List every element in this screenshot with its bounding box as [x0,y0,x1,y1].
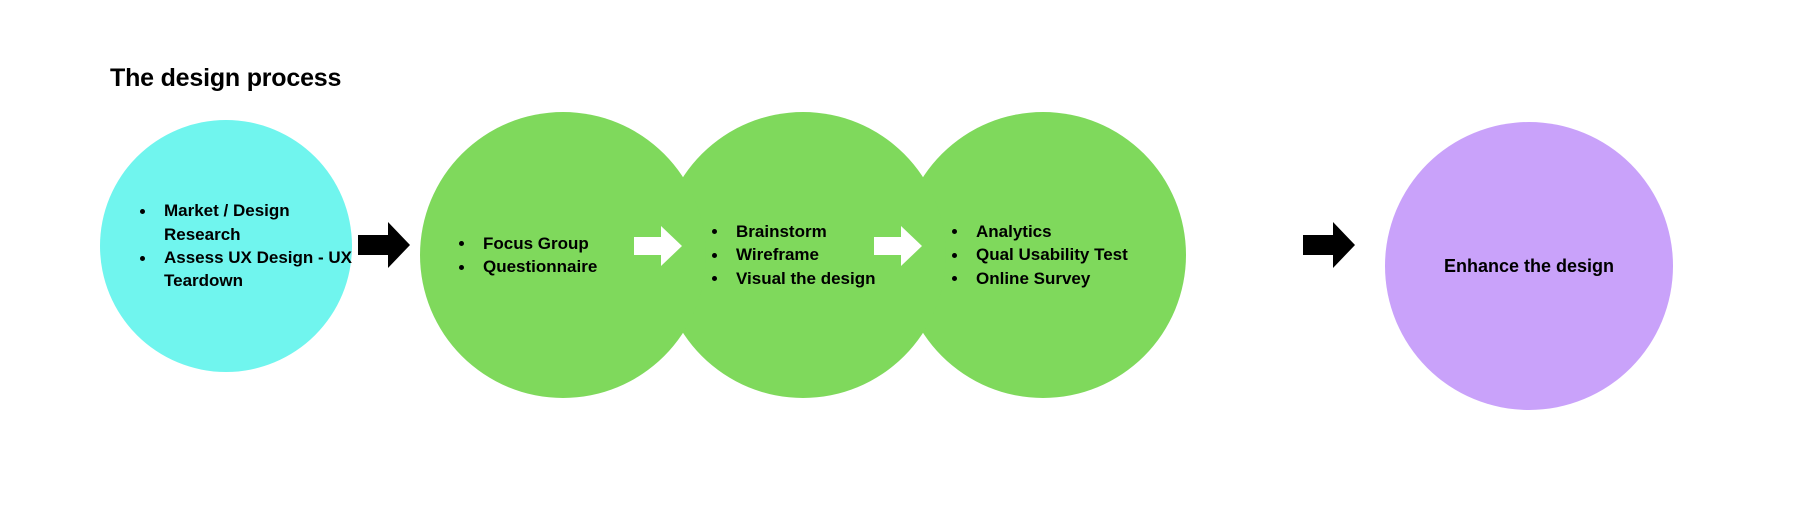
stage-enhance-label: Enhance the design [1385,256,1673,277]
bullet-dot-icon [712,229,717,234]
list-item: Visual the design [710,267,946,290]
arrow-research-to-discover [358,222,410,268]
bullet-dot-icon [459,241,464,246]
list-item-label: Focus Group [483,234,589,253]
bullet-dot-icon [712,276,717,281]
bullet-dot-icon [140,209,145,214]
bullet-dot-icon [952,276,957,281]
stage-circle-enhance: Enhance the design [1385,122,1673,410]
stage-circle-research: Market / Design Research Assess UX Desig… [100,120,352,372]
list-item-label: Online Survey [976,269,1090,288]
bullet-dot-icon [952,229,957,234]
list-item-label: Assess UX Design - UX Teardown [164,248,352,290]
bullet-dot-icon [952,253,957,258]
list-item: Market / Design Research [138,199,352,246]
list-item: Analytics [950,220,1186,243]
arrow-design-to-validate [874,226,922,266]
design-process-diagram: The design process Market / Design Resea… [0,0,1800,518]
list-item: Qual Usability Test [950,243,1186,266]
list-item-label: Analytics [976,222,1052,241]
list-item-label: Qual Usability Test [976,245,1128,264]
arrow-validate-to-enhance [1303,222,1355,268]
arrow-discover-to-design [634,226,682,266]
bullet-dot-icon [140,256,145,261]
list-item: Online Survey [950,267,1186,290]
bullet-dot-icon [712,253,717,258]
list-item-label: Visual the design [736,269,876,288]
list-item-label: Market / Design Research [164,201,290,243]
page-title: The design process [110,64,341,93]
list-item-label: Questionnaire [483,257,597,276]
list-item: Assess UX Design - UX Teardown [138,246,352,293]
list-item-label: Wireframe [736,245,819,264]
list-item-label: Brainstorm [736,222,827,241]
stage-research-bullet-list: Market / Design Research Assess UX Desig… [100,199,352,293]
bullet-dot-icon [459,265,464,270]
